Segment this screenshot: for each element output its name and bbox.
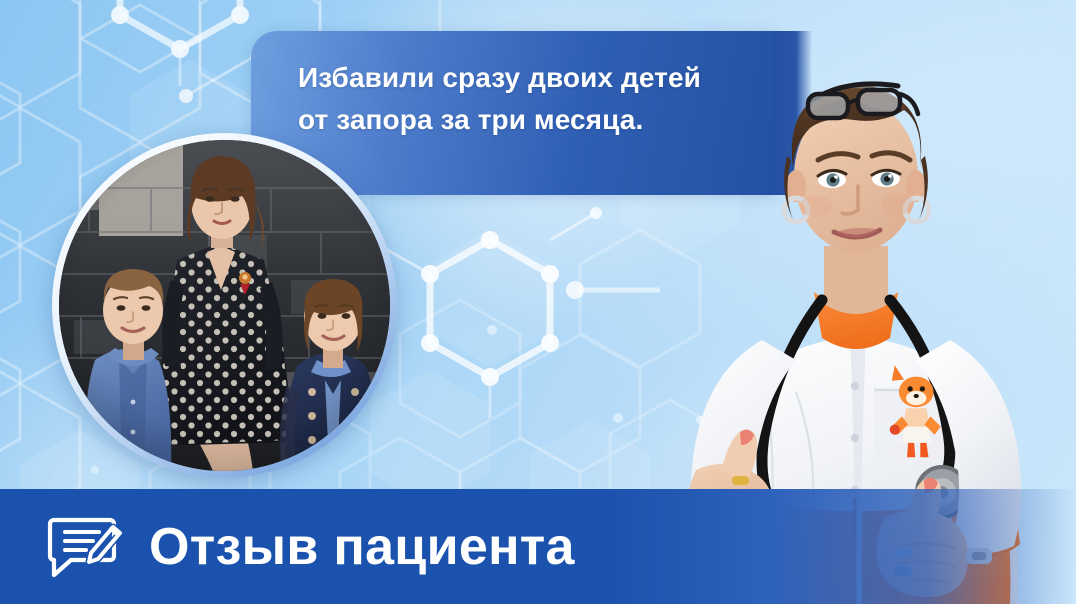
bottom-bar-title: Отзыв пациента	[149, 521, 575, 573]
bottom-bar: Отзыв пациента	[0, 489, 1076, 604]
promo-banner: Избавили сразу двоих детей от запора за …	[0, 0, 1076, 604]
patient-photo-circle	[52, 133, 397, 478]
review-speech-bubble-pencil-icon	[47, 511, 125, 583]
patient-photo	[59, 140, 390, 471]
headline-text: Избавили сразу двоих детей от запора за …	[251, 31, 778, 141]
